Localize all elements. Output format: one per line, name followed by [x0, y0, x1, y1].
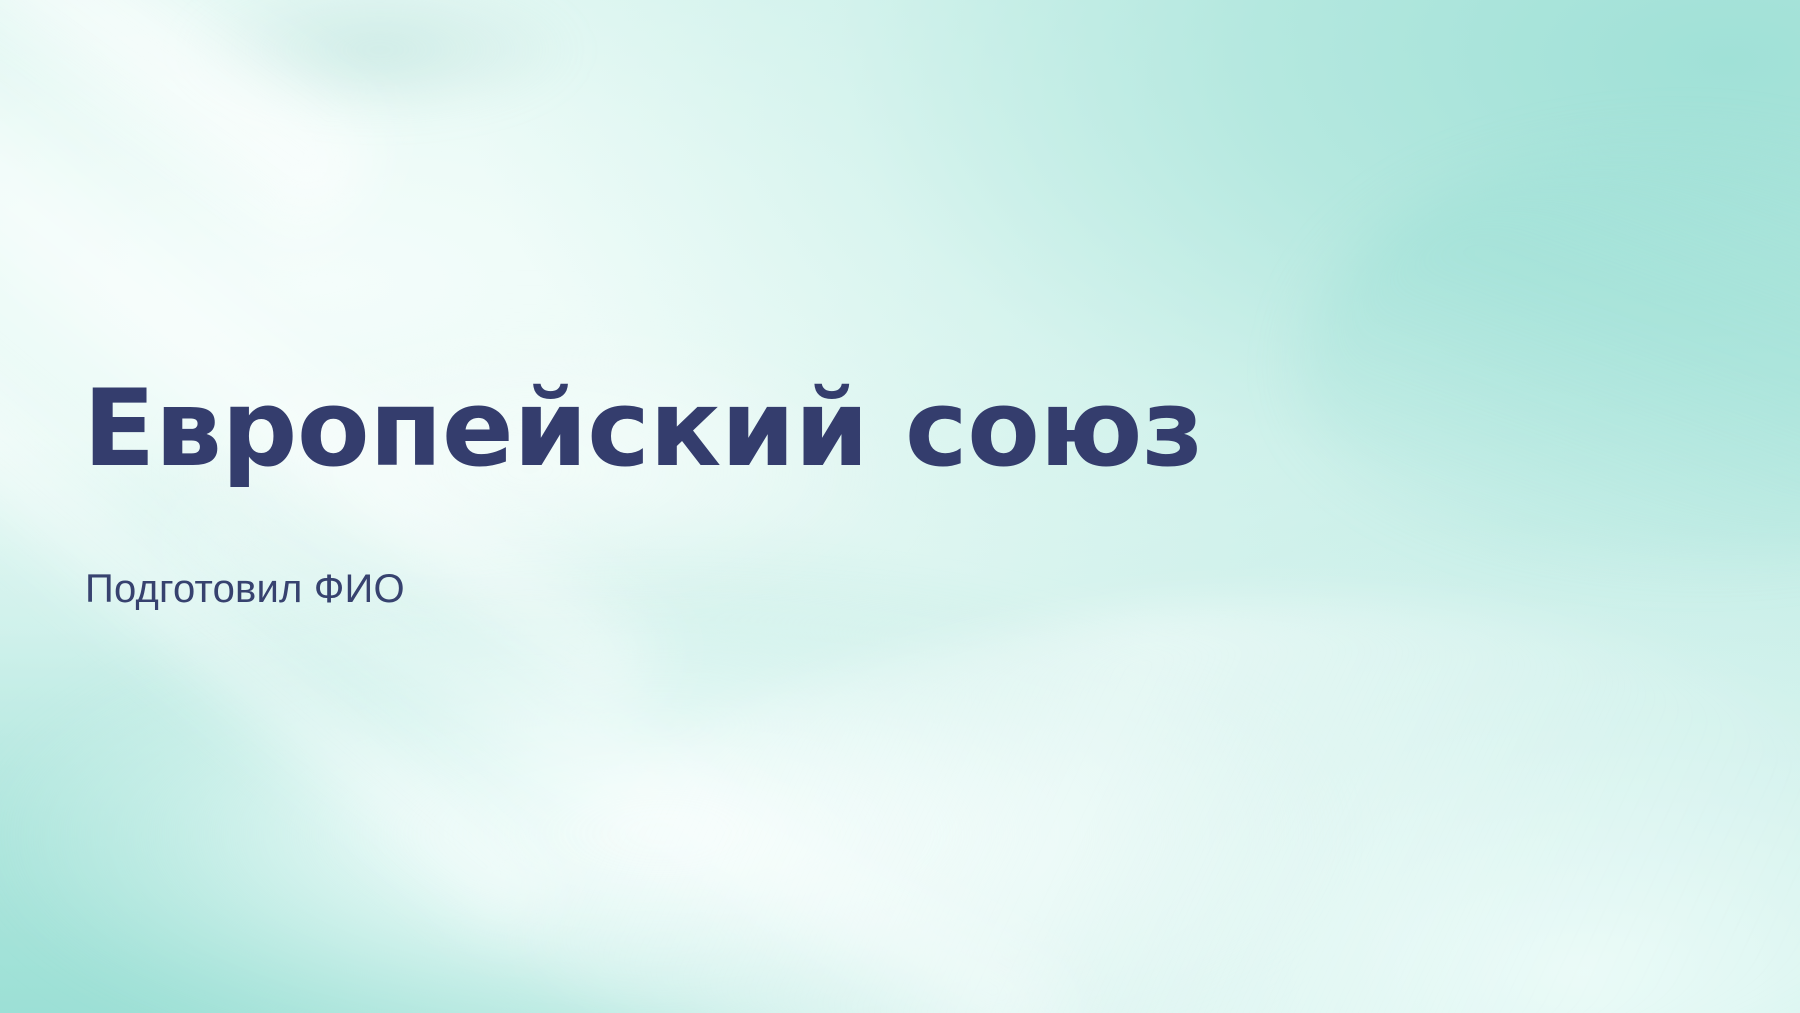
slide-text-block: Европейский союз Подготовил ФИО: [83, 0, 1483, 1013]
title-slide: Европейский союз Подготовил ФИО: [0, 0, 1800, 1013]
slide-title: Европейский союз: [83, 376, 1203, 482]
slide-subtitle: Подготовил ФИО: [85, 565, 405, 613]
